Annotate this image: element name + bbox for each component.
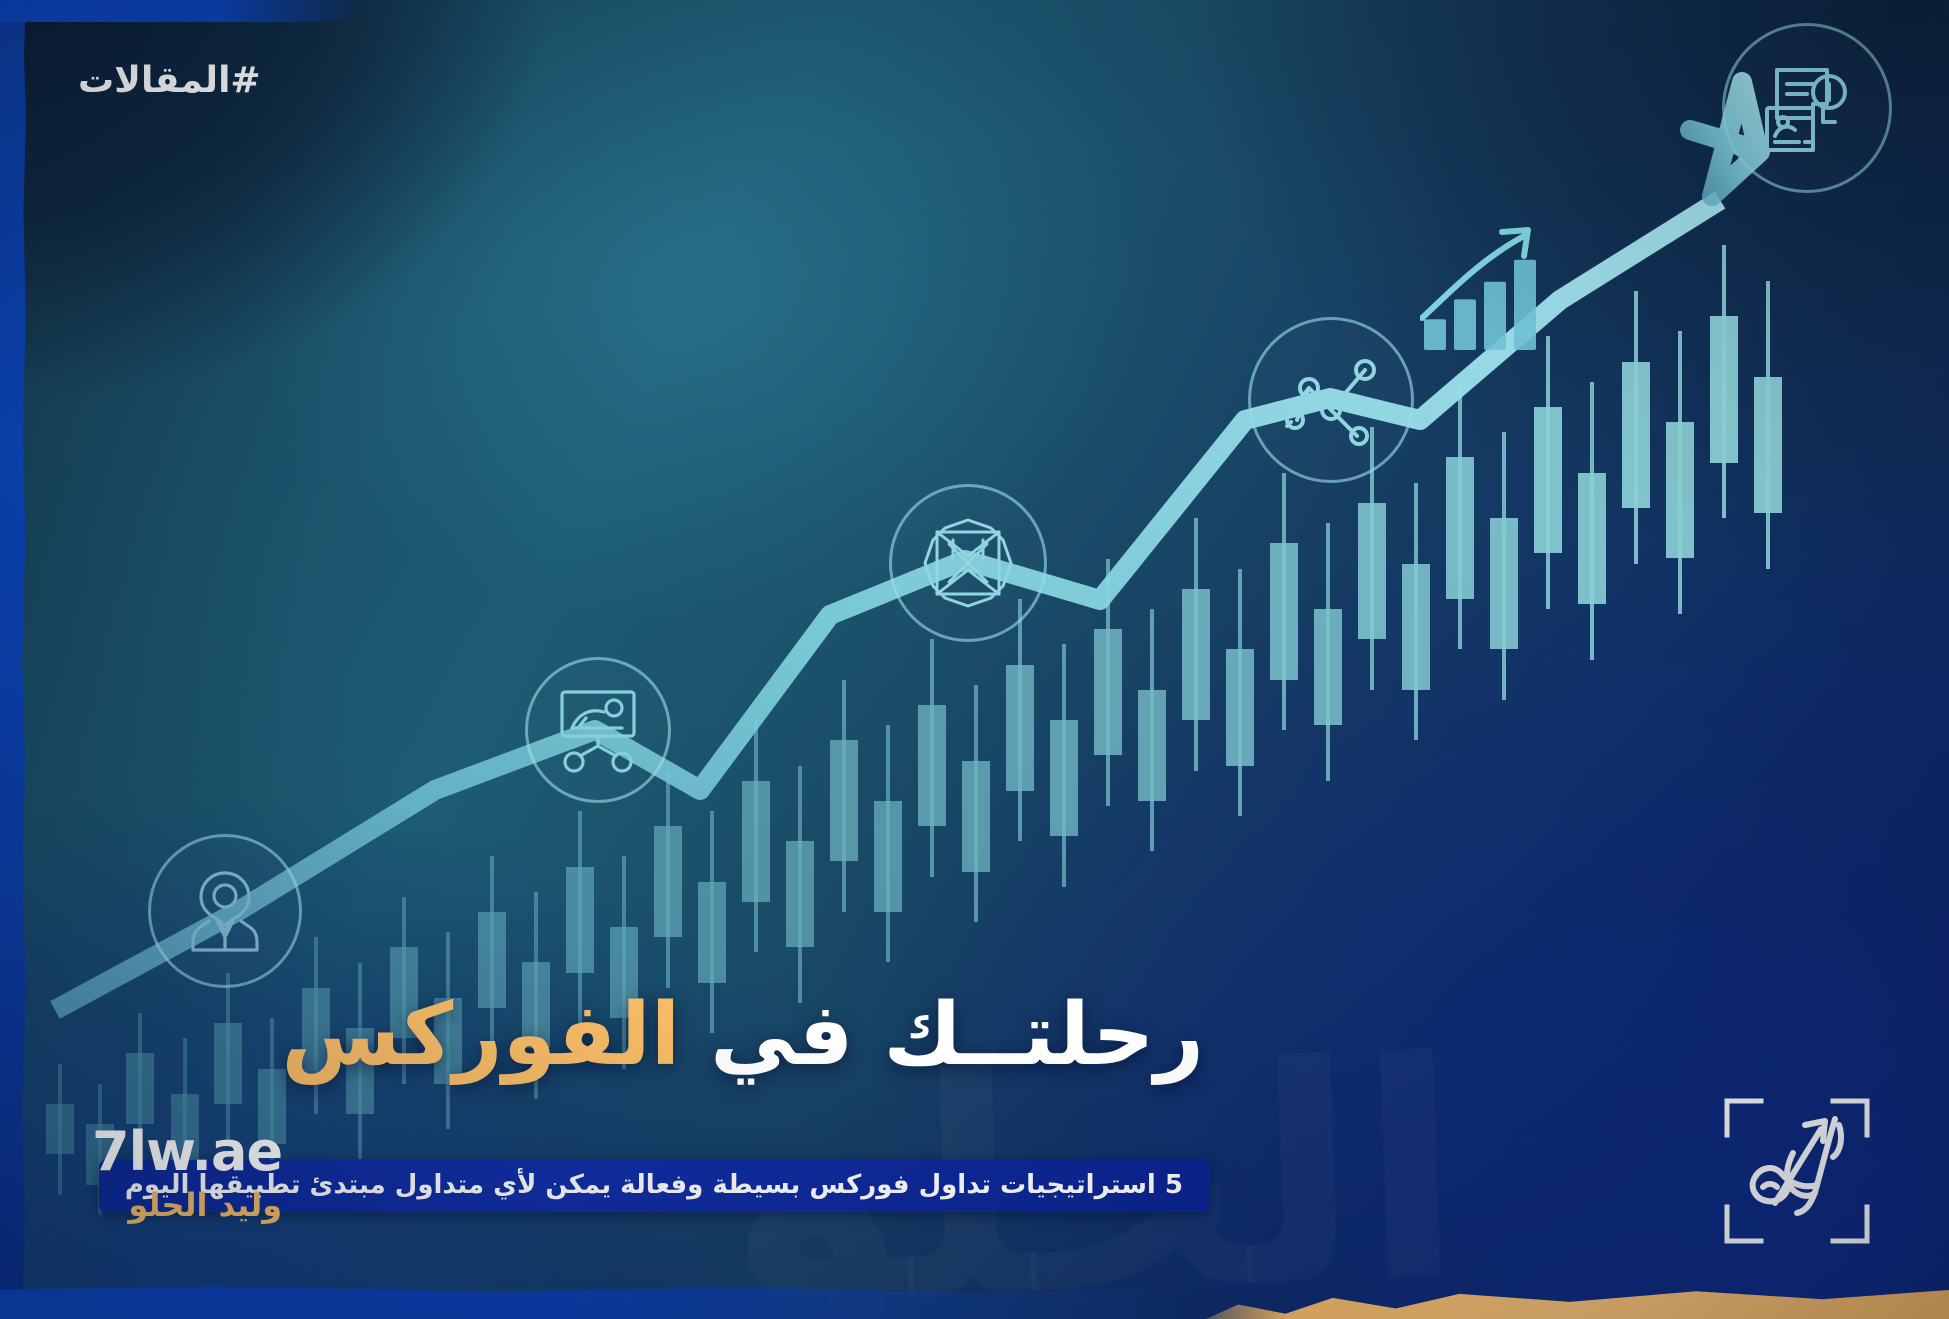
poster-canvas: الحلو <box>0 0 1949 1319</box>
background-vignette <box>0 0 1949 1319</box>
